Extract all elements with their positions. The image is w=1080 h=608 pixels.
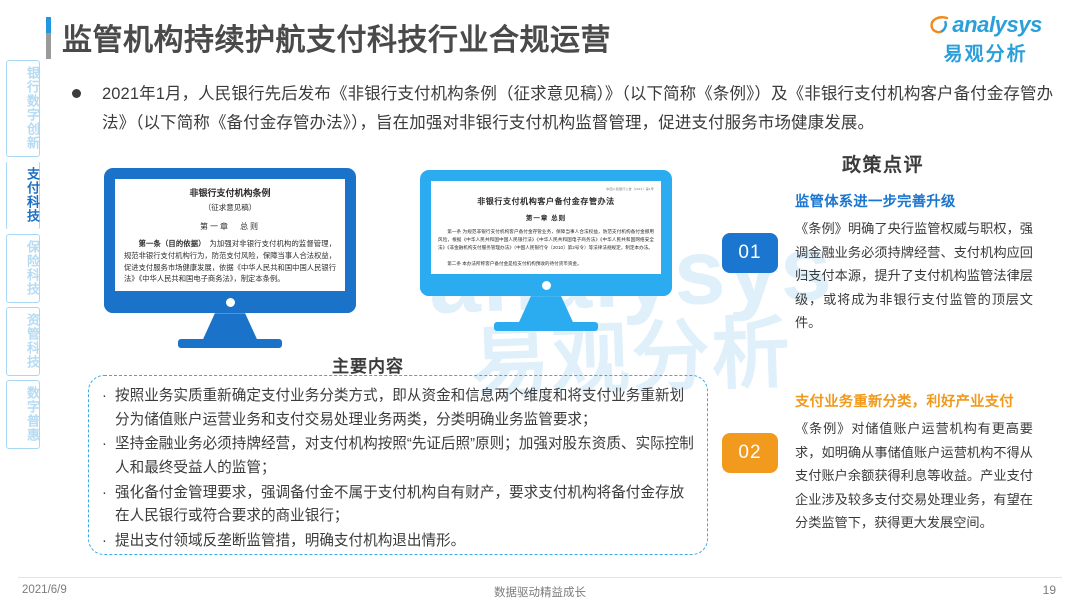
review-heading-02: 支付业务重新分类，利好产业支付 bbox=[795, 390, 1033, 411]
list-item: · 强化备付金管理要求，强调备付金不属于支付机构自有财产，要求支付机构将备付金存… bbox=[102, 482, 694, 529]
monitor-right-chin bbox=[420, 274, 672, 296]
doc-left-chapter: 第一章 总则 bbox=[124, 221, 336, 232]
monitor-left-base bbox=[178, 339, 282, 348]
sidebar-item-asset-tech[interactable]: 资管科技 bbox=[6, 307, 40, 376]
monitor-left-screen: 非银行支付机构条例 （征求意见稿） 第一章 总则 第一条（目的依据） 为加强对非… bbox=[115, 179, 345, 291]
monitor-right-frame: 中国人民银行公告〔2021〕第1号 非银行支付机构客户备付金存管办法 第一章 总… bbox=[420, 170, 672, 296]
title-accent-bar bbox=[46, 17, 51, 59]
page-title: 监管机构持续护航支付科技行业合规运营 bbox=[62, 15, 611, 59]
doc-right-chapter: 第一章 总则 bbox=[438, 212, 654, 222]
monitor-right-screen: 中国人民银行公告〔2021〕第1号 非银行支付机构客户备付金存管办法 第一章 总… bbox=[431, 181, 661, 274]
list-item-text: 按照业务实质重新确定支付业务分类方式，即从资金和信息两个维度和将支付业务重新划分… bbox=[115, 385, 694, 432]
monitor-right-base bbox=[494, 322, 598, 331]
monitor-left: 非银行支付机构条例 （征求意见稿） 第一章 总则 第一条（目的依据） 为加强对非… bbox=[104, 168, 356, 348]
list-item: · 提出支付领域反垄断监管措，明确支付机构退出情形。 bbox=[102, 530, 694, 554]
analysys-swoosh-icon bbox=[929, 14, 951, 36]
doc-left-body: 第一条（目的依据） 为加强对非银行支付机构的监督管理，规范非银行支付机构行为，防… bbox=[124, 238, 336, 285]
review-heading-01: 监管体系进一步完善升级 bbox=[795, 190, 1033, 211]
doc-left-subtitle: （征求意见稿） bbox=[124, 202, 336, 213]
monitor-left-power-dot-icon bbox=[226, 298, 235, 307]
doc-left-title: 非银行支付机构条例 bbox=[124, 186, 336, 199]
review-body-01: 《条例》明确了央行监管权威与职权，强调金融业务必须持牌经营、支付机构应回归支付本… bbox=[795, 217, 1033, 335]
list-marker-icon: · bbox=[102, 530, 115, 554]
section-sidebar: 银行数字创新 支付科技 保险科技 资管科技 数字普惠 bbox=[6, 60, 40, 453]
doc-right-body2: 第二条 本办法所称客户备付金是指支付机构预收的待付货币资金。 bbox=[438, 260, 654, 268]
document-custody-rules: 中国人民银行公告〔2021〕第1号 非银行支付机构客户备付金存管办法 第一章 总… bbox=[431, 181, 661, 274]
list-item-text: 强化备付金管理要求，强调备付金不属于支付机构自有财产，要求支付机构将备付金存放在… bbox=[115, 482, 694, 529]
list-marker-icon: · bbox=[102, 482, 115, 529]
lead-bullet: 2021年1月，人民银行先后发布《非银行支付机构条例（征求意见稿）》（以下简称《… bbox=[72, 80, 1062, 139]
brand-logo: analysys 易观分析 bbox=[929, 12, 1042, 66]
footer-divider bbox=[18, 577, 1062, 578]
monitor-left-frame: 非银行支付机构条例 （征求意见稿） 第一章 总则 第一条（目的依据） 为加强对非… bbox=[104, 168, 356, 313]
monitor-left-chin bbox=[104, 291, 356, 313]
slide-root: analysys 易观分析 监管机构持续护航支付科技行业合规运营 analysy… bbox=[0, 0, 1080, 608]
list-marker-icon: · bbox=[102, 385, 115, 432]
policy-review-title: 政策点评 bbox=[842, 150, 924, 177]
doc-right-title: 非银行支付机构客户备付金存管办法 bbox=[438, 196, 654, 207]
list-item-text: 坚持金融业务必须持牌经营，对支付机构按照“先证后照”原则；加强对股东资质、实际控… bbox=[115, 433, 694, 480]
list-item: · 按照业务实质重新确定支付业务分类方式，即从资金和信息两个维度和将支付业务重新… bbox=[102, 385, 694, 432]
monitor-right: 中国人民银行公告〔2021〕第1号 非银行支付机构客户备付金存管办法 第一章 总… bbox=[420, 170, 672, 331]
bullet-dot-icon bbox=[72, 89, 81, 98]
review-block-02: 支付业务重新分类，利好产业支付 《条例》对储值账户运营机构有更高要求，如明确从事… bbox=[795, 390, 1033, 535]
review-body-02: 《条例》对储值账户运营机构有更高要求，如明确从事储值账户运营机构不得从支付账户余… bbox=[795, 417, 1033, 535]
list-item-text: 提出支付领域反垄断监管措，明确支付机构退出情形。 bbox=[115, 530, 694, 554]
list-item: · 坚持金融业务必须持牌经营，对支付机构按照“先证后照”原则；加强对股东资质、实… bbox=[102, 433, 694, 480]
lead-bullet-text: 2021年1月，人民银行先后发布《非银行支付机构条例（征求意见稿）》（以下简称《… bbox=[102, 80, 1062, 139]
doc-right-body: 第一条 为规范非银行支付机构客户备付金存管业务，保障当事人合法权益，防范支付机构… bbox=[438, 228, 654, 252]
monitor-left-stand bbox=[203, 313, 257, 339]
doc-right-stamp: 中国人民银行公告〔2021〕第1号 bbox=[438, 187, 654, 191]
main-content-box: · 按照业务实质重新确定支付业务分类方式，即从资金和信息两个维度和将支付业务重新… bbox=[88, 375, 708, 555]
sidebar-item-bank-digital[interactable]: 银行数字创新 bbox=[6, 60, 40, 157]
sidebar-item-digital-inclusive[interactable]: 数字普惠 bbox=[6, 380, 40, 449]
monitor-right-power-dot-icon bbox=[542, 281, 551, 290]
review-badge-01: 01 bbox=[722, 233, 778, 273]
document-regulation-draft: 非银行支付机构条例 （征求意见稿） 第一章 总则 第一条（目的依据） 为加强对非… bbox=[115, 179, 345, 291]
review-block-01: 监管体系进一步完善升级 《条例》明确了央行监管权威与职权，强调金融业务必须持牌经… bbox=[795, 190, 1033, 335]
doc-left-body-lead: 第一条（目的依据） bbox=[139, 239, 202, 248]
logo-wordmark: analysys bbox=[952, 12, 1042, 38]
logo-wordmark-cn: 易观分析 bbox=[929, 39, 1042, 66]
sidebar-item-insurance-tech[interactable]: 保险科技 bbox=[6, 234, 40, 303]
main-content-heading: 主要内容 bbox=[332, 352, 404, 377]
monitor-right-stand bbox=[519, 296, 573, 322]
review-badge-02: 02 bbox=[722, 433, 778, 473]
sidebar-item-payment-tech[interactable]: 支付科技 bbox=[6, 161, 40, 230]
list-marker-icon: · bbox=[102, 433, 115, 480]
footer-page-number: 19 bbox=[1043, 583, 1056, 597]
footer-tagline: 数据驱动精益成长 bbox=[0, 584, 1080, 600]
